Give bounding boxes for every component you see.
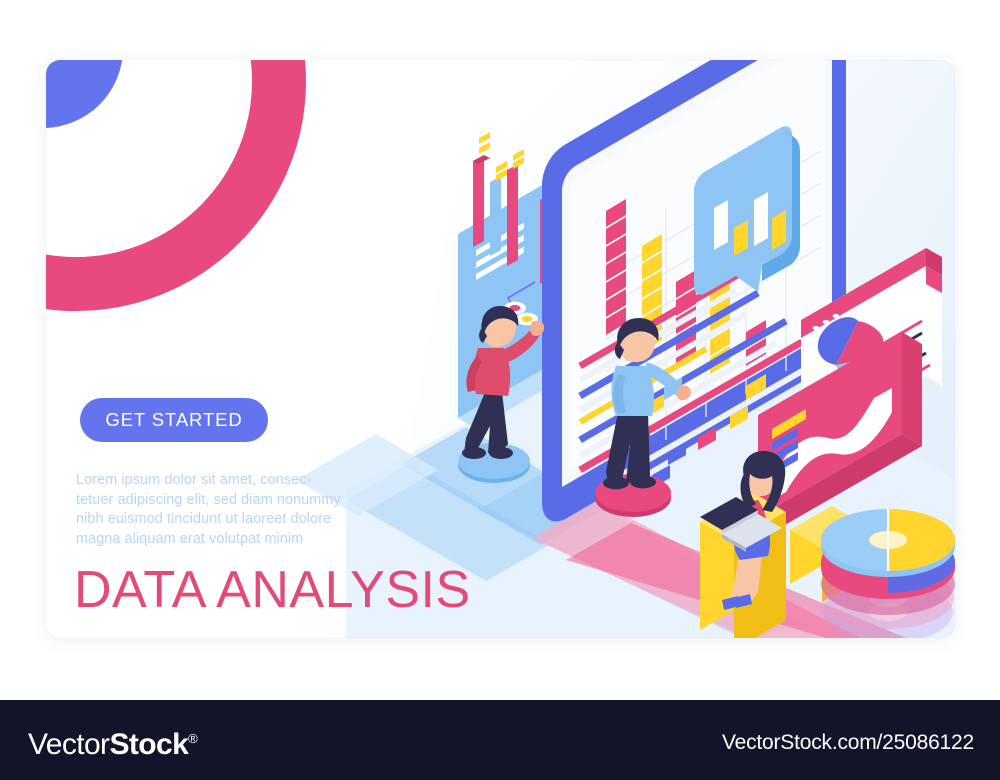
registered-mark-icon: ®	[188, 731, 197, 746]
body-line-4: magna aliquam erat volutpat minim	[76, 530, 376, 550]
screenshot-root: GET STARTED Lorem ipsum dolor sit amet, …	[0, 0, 1000, 780]
hero-card: GET STARTED Lorem ipsum dolor sit amet, …	[46, 60, 955, 638]
body-paragraph: Lorem ipsum dolor sit amet, consec- tetu…	[76, 471, 376, 549]
layered-donut-chart	[821, 509, 955, 638]
isometric-illustration	[46, 60, 955, 638]
bar-pink-1	[606, 199, 626, 335]
logo-bold: Stock	[109, 728, 188, 761]
logo-prefix: Vector	[28, 728, 109, 761]
watermark-footer: VectorStock® VectorStock.com/25086122	[0, 700, 1000, 780]
get-started-button[interactable]: GET STARTED	[80, 398, 268, 442]
body-line-1: Lorem ipsum dolor sit amet, consec-	[76, 471, 376, 491]
body-line-2: tetuer adipiscing elit, sed diam nonummy	[76, 491, 376, 511]
vectorstock-url: VectorStock.com/25086122	[722, 731, 974, 755]
body-line-3: nibh euismod tincidunt ut laoreet dolore	[76, 510, 376, 530]
page-title: DATA ANALYSIS	[74, 561, 471, 619]
vectorstock-logo: VectorStock®	[28, 722, 197, 762]
